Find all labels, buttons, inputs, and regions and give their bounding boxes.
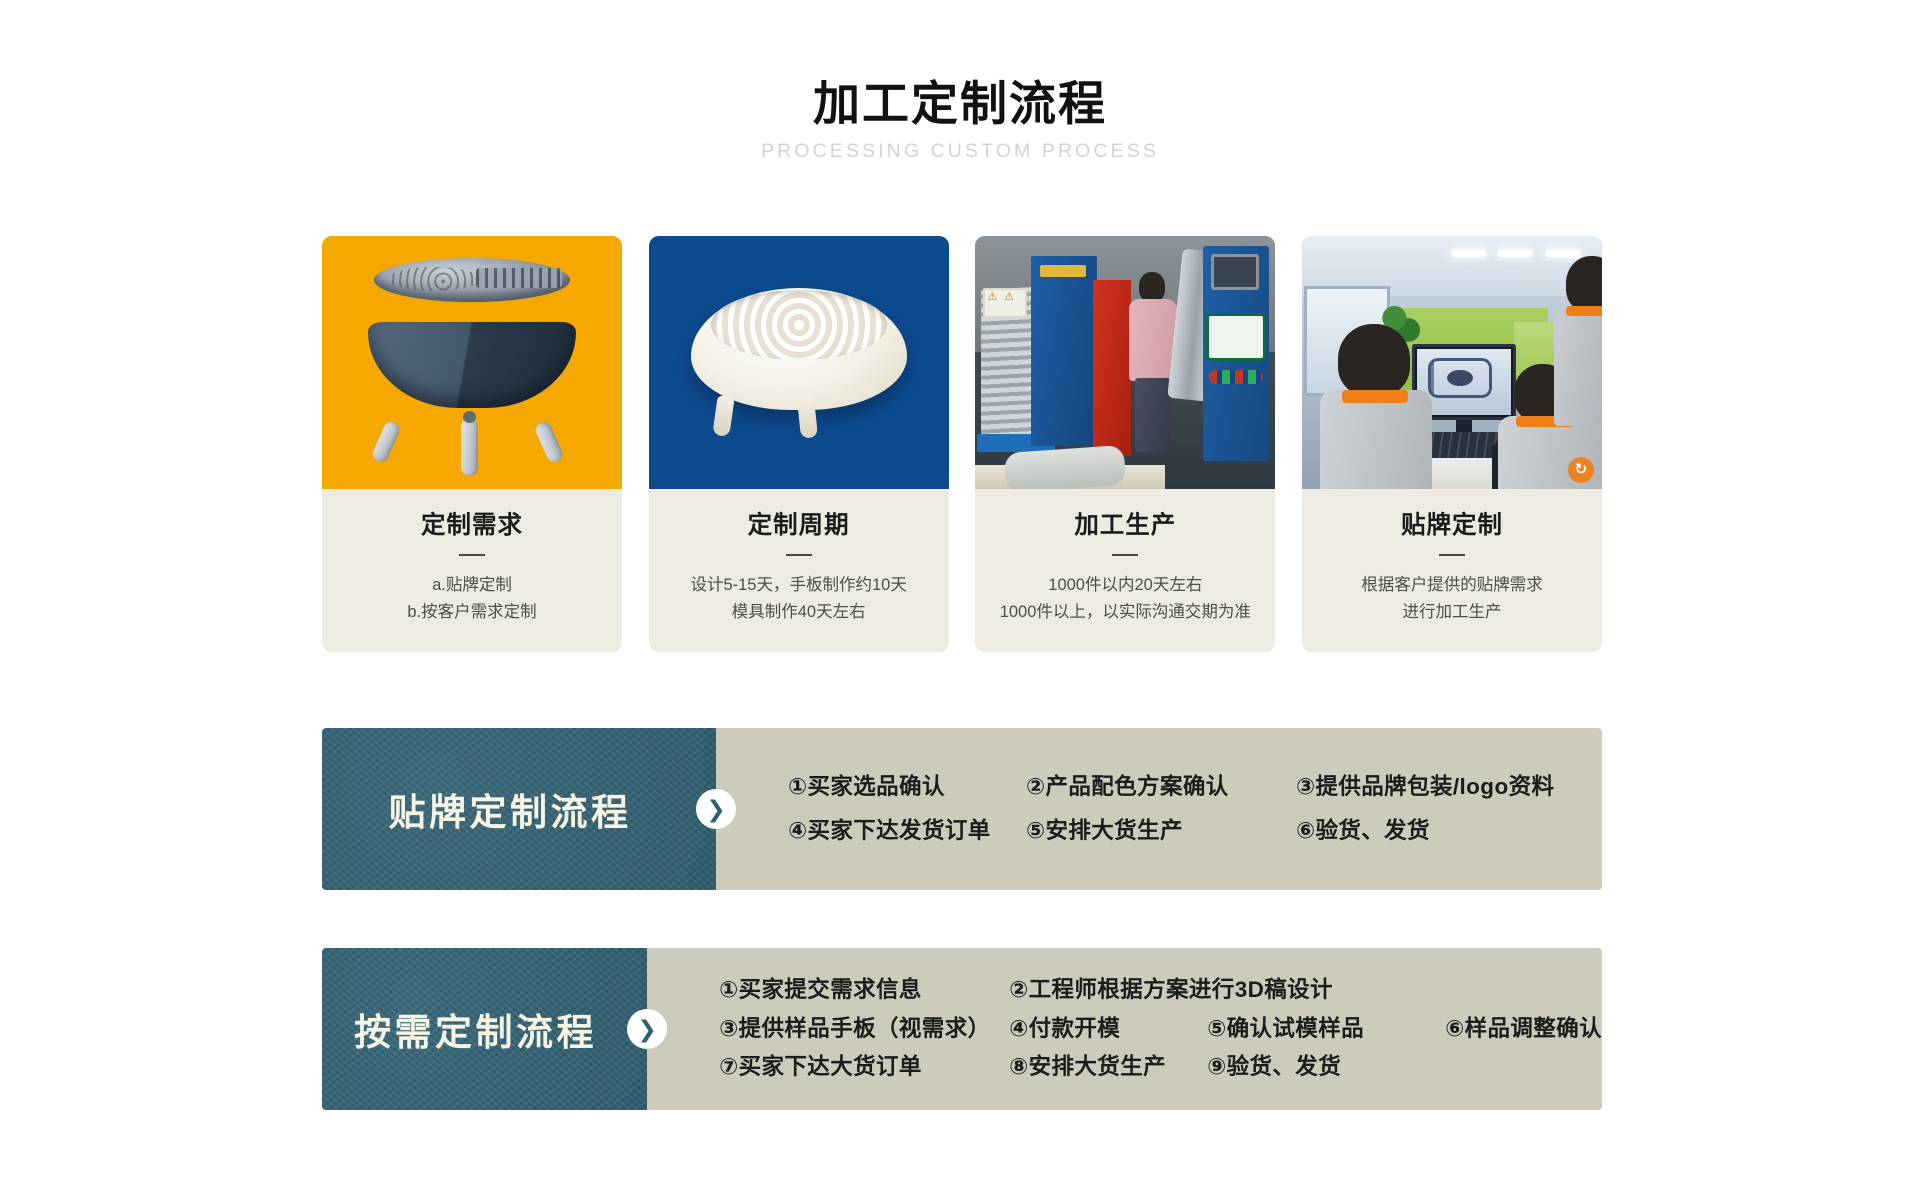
card-4-description: 根据客户提供的贴牌需求 进行加工生产 <box>1314 572 1590 625</box>
oem-step-row-2: ④买家下达发货订单 ⑤安排大货生产 ⑥验货、发货 <box>788 820 1602 843</box>
warning-sign-icon <box>983 288 1027 318</box>
grill-leg-right-icon <box>533 420 565 465</box>
watermark-logo-icon: ↻ <box>1568 457 1594 483</box>
card-2-divider <box>786 554 812 556</box>
card-1-desc-line-1: a.贴牌定制 <box>334 572 610 599</box>
custom-process-label-text: 按需定制流程 <box>354 1002 615 1056</box>
grill-leg-center-icon <box>461 418 478 476</box>
card-1-body: 定制需求 a.贴牌定制 b.按客户需求定制 <box>322 489 622 652</box>
control-panel <box>1203 246 1269 461</box>
grill-leg-left-icon <box>370 420 402 465</box>
engineer-standing <box>1554 256 1602 426</box>
oem-step-3: ③提供品牌包装/logo资料 <box>1296 776 1554 799</box>
oem-step-2: ②产品配色方案确认 <box>1026 776 1296 799</box>
custom-step-6: ⑥样品调整确认 <box>1445 1018 1602 1041</box>
card-4-media-office-photo: ↻ <box>1302 236 1602 489</box>
card-3-divider <box>1112 554 1138 556</box>
card-4-title: 贴牌定制 <box>1314 511 1590 540</box>
process-card-1[interactable]: 定制需求 a.贴牌定制 b.按客户需求定制 <box>322 236 622 652</box>
engineer-left-head <box>1338 324 1410 396</box>
grill-bowl-icon <box>368 322 576 408</box>
card-3-media-factory-photo <box>975 236 1275 489</box>
card-4-body: 贴牌定制 根据客户提供的贴牌需求 进行加工生产 <box>1302 489 1602 652</box>
oem-process-label: 贴牌定制流程 ❯ <box>322 728 716 890</box>
engineer-standing-head <box>1566 256 1602 312</box>
oem-step-1: ①买家选品确认 <box>788 776 1026 799</box>
card-2-body: 定制周期 设计5-15天，手板制作约10天 模具制作40天左右 <box>649 489 949 652</box>
card-1-media-exploded-grill-image <box>322 236 622 489</box>
page-header: 加工定制流程 PROCESSING CUSTOM PROCESS <box>0 0 1920 163</box>
panel-display-main <box>1209 316 1263 358</box>
custom-step-1: ①买家提交需求信息 <box>719 979 1009 1002</box>
oem-step-row-1: ①买家选品确认 ②产品配色方案确认 ③提供品牌包装/logo资料 <box>788 776 1602 799</box>
oem-step-6: ⑥验货、发货 <box>1296 820 1430 843</box>
card-2-description: 设计5-15天，手板制作约10天 模具制作40天左右 <box>661 572 937 625</box>
prototype-leg-left-icon <box>712 395 734 437</box>
card-4-divider <box>1439 554 1465 556</box>
oem-process-steps: ①买家选品确认 ②产品配色方案确认 ③提供品牌包装/logo资料 ④买家下达发货… <box>716 728 1602 890</box>
process-card-2[interactable]: 定制周期 设计5-15天，手板制作约10天 模具制作40天左右 <box>649 236 949 652</box>
custom-step-2: ②工程师根据方案进行3D稿设计 <box>1009 979 1333 1002</box>
card-1-desc-line-2: b.按客户需求定制 <box>334 599 610 626</box>
page-subtitle: PROCESSING CUSTOM PROCESS <box>0 140 1920 163</box>
card-3-desc-line-1: 1000件以内20天左右 <box>987 572 1263 599</box>
process-card-3[interactable]: 加工生产 1000件以内20天左右 1000件以上，以实际沟通交期为准 <box>975 236 1275 652</box>
engineer-standing-collar <box>1566 306 1602 316</box>
card-1-divider <box>459 554 485 556</box>
oem-step-4: ④买家下达发货订单 <box>788 820 1026 843</box>
molding-machine <box>1031 256 1097 446</box>
chevron-right-icon: ❯ <box>696 789 736 829</box>
custom-step-3: ③提供样品手板（视需求） <box>719 1018 1009 1041</box>
prototype-leg-right-icon <box>797 397 818 439</box>
custom-step-4: ④付款开模 <box>1009 1018 1207 1041</box>
process-cards: 定制需求 a.贴牌定制 b.按客户需求定制 定制周期 设计5-15天，手板 <box>322 236 1602 652</box>
molded-part <box>1004 445 1126 489</box>
engineer-standing-body <box>1554 306 1602 426</box>
engineer-left <box>1320 324 1430 489</box>
card-1-description: a.贴牌定制 b.按客户需求定制 <box>334 572 610 625</box>
custom-process-steps: ①买家提交需求信息 ②工程师根据方案进行3D稿设计 ③提供样品手板（视需求） ④… <box>647 948 1602 1110</box>
cad-drawing <box>1428 358 1492 398</box>
engineer-left-collar <box>1342 390 1408 403</box>
engineer-left-body <box>1320 390 1432 489</box>
custom-step-7: ⑦买家下达大货订单 <box>719 1056 1009 1079</box>
operator-legs <box>1135 378 1171 452</box>
process-card-4[interactable]: ↻ 贴牌定制 根据客户提供的贴牌需求 进行加工生产 <box>1302 236 1602 652</box>
office-photo: ↻ <box>1302 236 1602 489</box>
custom-step-8: ⑧安排大货生产 <box>1009 1056 1207 1079</box>
custom-step-row-1: ①买家提交需求信息 ②工程师根据方案进行3D稿设计 <box>719 979 1602 1002</box>
custom-step-9: ⑨验货、发货 <box>1207 1056 1341 1079</box>
card-2-desc-line-1: 设计5-15天，手板制作约10天 <box>661 572 937 599</box>
card-2-media-prototype-image <box>649 236 949 489</box>
panel-display-top <box>1211 254 1259 290</box>
prototype-maze-top-icon <box>711 290 887 360</box>
custom-process-band: 按需定制流程 ❯ ①买家提交需求信息 ②工程师根据方案进行3D稿设计 ③提供样品… <box>322 948 1602 1110</box>
red-machine-column <box>1093 280 1131 456</box>
custom-process-label: 按需定制流程 ❯ <box>322 948 647 1110</box>
card-3-title: 加工生产 <box>987 511 1263 540</box>
operator-head <box>1139 272 1165 302</box>
chevron-right-icon: ❯ <box>627 1009 667 1049</box>
oem-process-band: 贴牌定制流程 ❯ ①买家选品确认 ②产品配色方案确认 ③提供品牌包装/logo资… <box>322 728 1602 890</box>
card-2-desc-line-2: 模具制作40天左右 <box>661 599 937 626</box>
card-3-desc-line-2: 1000件以上，以实际沟通交期为准 <box>987 599 1263 626</box>
factory-photo <box>975 236 1275 489</box>
panel-buttons <box>1209 370 1263 384</box>
card-4-desc-line-1: 根据客户提供的贴牌需求 <box>1314 572 1590 599</box>
card-2-title: 定制周期 <box>661 511 937 540</box>
card-3-body: 加工生产 1000件以内20天左右 1000件以上，以实际沟通交期为准 <box>975 489 1275 652</box>
oem-process-label-text: 贴牌定制流程 <box>389 782 650 836</box>
custom-step-row-2: ③提供样品手板（视需求） ④付款开模 ⑤确认试模样品 ⑥样品调整确认 <box>719 1018 1602 1041</box>
oem-step-5: ⑤安排大货生产 <box>1026 820 1296 843</box>
page-root: 加工定制流程 PROCESSING CUSTOM PROCESS 定制需求 a.… <box>0 0 1920 1200</box>
ceiling-light-2 <box>1498 250 1532 257</box>
page-title: 加工定制流程 <box>0 78 1920 131</box>
card-3-description: 1000件以内20天左右 1000件以上，以实际沟通交期为准 <box>987 572 1263 625</box>
custom-step-row-3: ⑦买家下达大货订单 ⑧安排大货生产 ⑨验货、发货 <box>719 1056 1602 1079</box>
custom-step-5: ⑤确认试模样品 <box>1207 1018 1445 1041</box>
grill-lid-icon <box>374 258 570 302</box>
card-1-title: 定制需求 <box>334 511 610 540</box>
card-4-desc-line-2: 进行加工生产 <box>1314 599 1590 626</box>
ceiling-light-1 <box>1452 250 1486 257</box>
